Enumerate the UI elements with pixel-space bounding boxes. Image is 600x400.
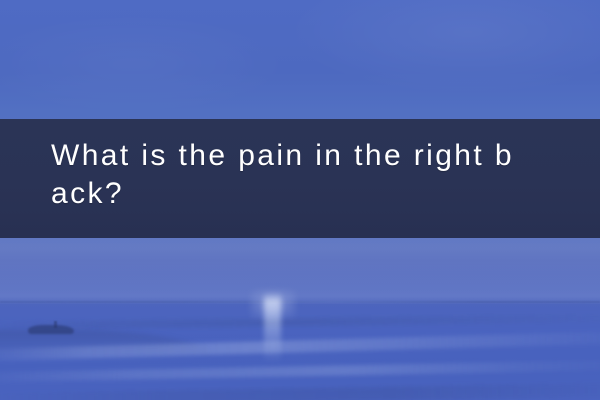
subtitle-banner: What is the pain in the right b ack? xyxy=(0,119,600,238)
subtitle-text: What is the pain in the right b ack? xyxy=(51,137,600,213)
video-frame: What is the pain in the right b ack? xyxy=(0,0,600,400)
